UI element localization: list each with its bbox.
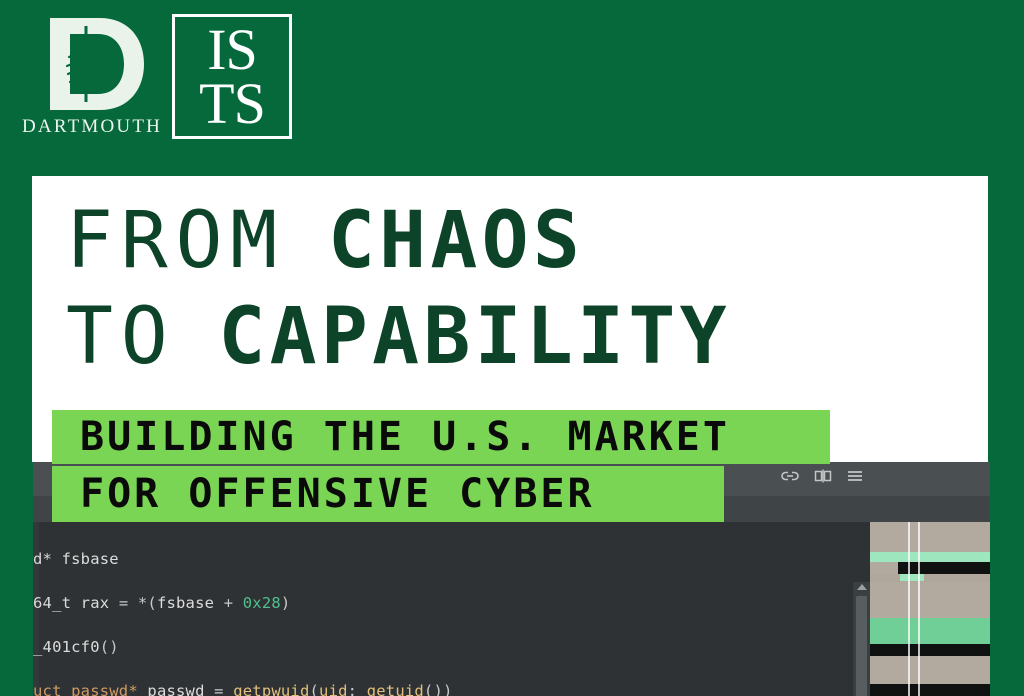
logo-row: DARTMOUTH IS TS [22,14,292,140]
poster-canvas: DARTMOUTH IS TS FROMCHAOS TOCAPABILITY [0,0,1024,696]
dartmouth-pine-d-icon [22,14,154,114]
title-line-1: FROMCHAOS [66,202,584,280]
code-line: uct passwd* passwd = getpwuid(uid: getui… [33,680,823,696]
frame-edge-left [0,462,33,696]
ists-line-2: TS [199,77,265,130]
subtitle-banner-1: BUILDING THE U.S. MARKET [52,410,830,464]
title-line-2: TOCAPABILITY [66,298,731,376]
code-line: _401cf0() [33,636,823,658]
ists-logo: IS TS [172,14,292,139]
title-word-capability: CAPABILITY [218,292,731,382]
link-icon[interactable] [780,468,800,484]
subtitle-line-1: BUILDING THE U.S. MARKET [80,417,730,457]
scrollbar-thumb[interactable] [856,596,867,696]
subtitle-banner-2: FOR OFFENSIVE CYBER [52,466,724,522]
title-word-from: FROM [66,196,285,286]
dartmouth-wordmark: DARTMOUTH [22,116,154,138]
split-view-icon[interactable] [813,468,833,484]
editor-body: d* fsbase 64_t rax = *(fsbase + 0x28) _4… [33,522,990,696]
title-word-chaos: CHAOS [328,196,584,286]
ists-line-1: IS [207,23,257,76]
code-line: d* fsbase [33,548,823,570]
code-area[interactable]: d* fsbase 64_t rax = *(fsbase + 0x28) _4… [33,522,823,696]
title-word-to: TO [66,292,176,382]
frame-edge-right [990,462,1024,696]
editor-toolbar-icons [780,468,864,484]
editor-scrollbar[interactable] [852,582,870,696]
editor-minimap[interactable] [870,522,990,696]
code-line: 64_t rax = *(fsbase + 0x28) [33,592,823,614]
hamburger-menu-icon[interactable] [846,468,864,484]
subtitle-line-2: FOR OFFENSIVE CYBER [80,474,595,514]
dartmouth-logo: DARTMOUTH [22,14,154,140]
scroll-up-arrow-icon[interactable] [857,584,867,590]
